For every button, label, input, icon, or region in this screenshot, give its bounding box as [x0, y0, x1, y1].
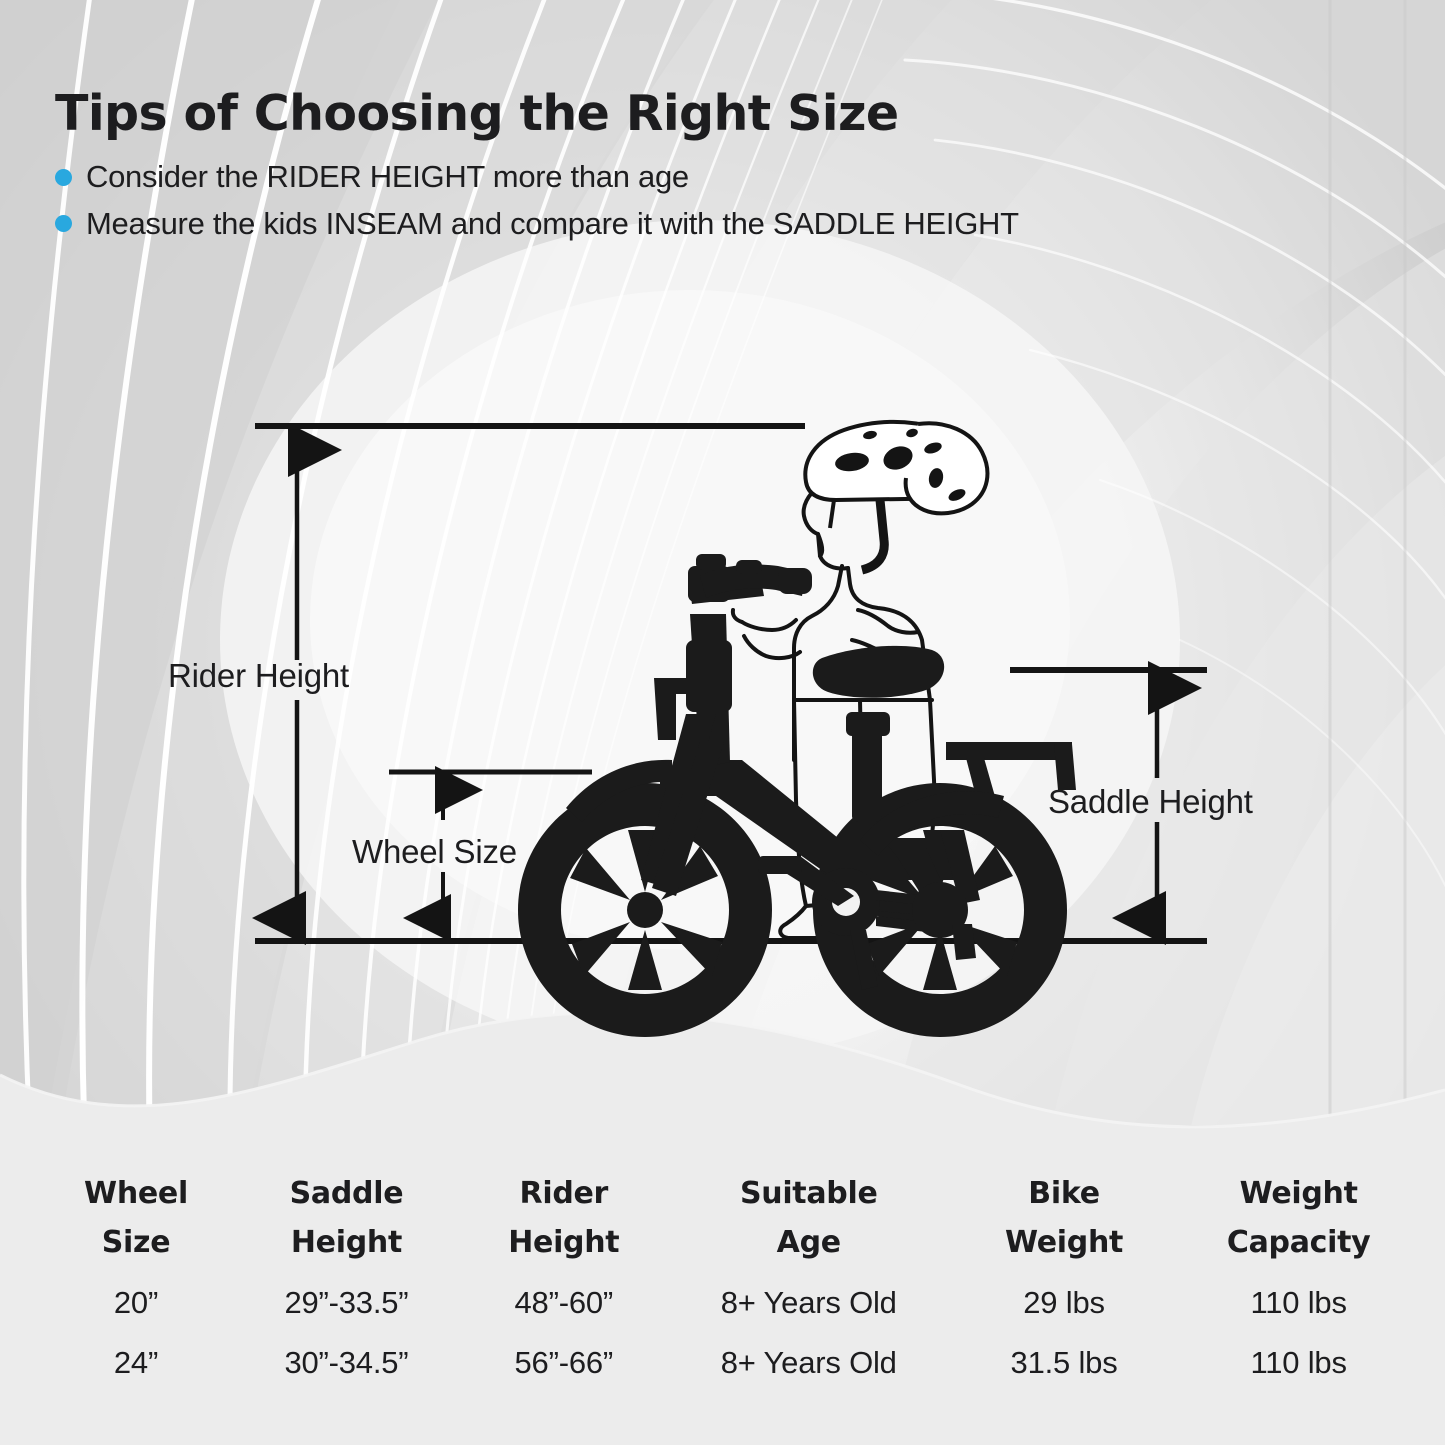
cell-weight-capacity: 110 lbs [1185, 1273, 1413, 1333]
cell-bike-weight: 31.5 lbs [943, 1333, 1185, 1393]
bullet-dot-icon [55, 215, 72, 232]
tips-list: Consider the RIDER HEIGHT more than age … [55, 159, 1355, 241]
cell-saddle-height: 30”-34.5” [240, 1333, 454, 1393]
column-header-weight-capacity: Weight Capacity [1185, 1170, 1413, 1273]
table-row: 20” 29”-33.5” 48”-60” 8+ Years Old 29 lb… [33, 1273, 1413, 1333]
cell-weight-capacity: 110 lbs [1185, 1333, 1413, 1393]
bullet-dot-icon [55, 169, 72, 186]
column-header-rider-height: Rider Height [453, 1170, 674, 1273]
cell-rider-height: 48”-60” [453, 1273, 674, 1333]
column-header-bike-weight: Bike Weight [943, 1170, 1185, 1273]
list-item: Consider the RIDER HEIGHT more than age [55, 159, 1355, 195]
infographic-page: Tips of Choosing the Right Size Consider… [0, 0, 1445, 1445]
column-header-suitable-age: Suitable Age [674, 1170, 943, 1273]
column-header-wheel-size: Wheel Size [33, 1170, 240, 1273]
size-chart-table: Wheel Size Saddle Height Rider Height Su… [33, 1170, 1413, 1393]
rider-height-label: Rider Height [168, 657, 349, 695]
cell-saddle-height: 29”-33.5” [240, 1273, 454, 1333]
header-block: Tips of Choosing the Right Size Consider… [55, 88, 1355, 253]
size-table-wrapper: Wheel Size Saddle Height Rider Height Su… [0, 1170, 1445, 1393]
table-row: 24” 30”-34.5” 56”-66” 8+ Years Old 31.5 … [33, 1333, 1413, 1393]
cell-wheel-size: 24” [33, 1333, 240, 1393]
tip-text: Measure the kids INSEAM and compare it w… [86, 206, 1019, 242]
cell-suitable-age: 8+ Years Old [674, 1273, 943, 1333]
cell-rider-height: 56”-66” [453, 1333, 674, 1393]
wheel-size-label: Wheel Size [352, 833, 517, 871]
page-title: Tips of Choosing the Right Size [55, 88, 1355, 139]
list-item: Measure the kids INSEAM and compare it w… [55, 206, 1355, 242]
tip-text: Consider the RIDER HEIGHT more than age [86, 159, 689, 195]
saddle-height-label: Saddle Height [1048, 783, 1253, 821]
cell-suitable-age: 8+ Years Old [674, 1333, 943, 1393]
table-header-row: Wheel Size Saddle Height Rider Height Su… [33, 1170, 1413, 1273]
cell-wheel-size: 20” [33, 1273, 240, 1333]
column-header-saddle-height: Saddle Height [240, 1170, 454, 1273]
cell-bike-weight: 29 lbs [943, 1273, 1185, 1333]
